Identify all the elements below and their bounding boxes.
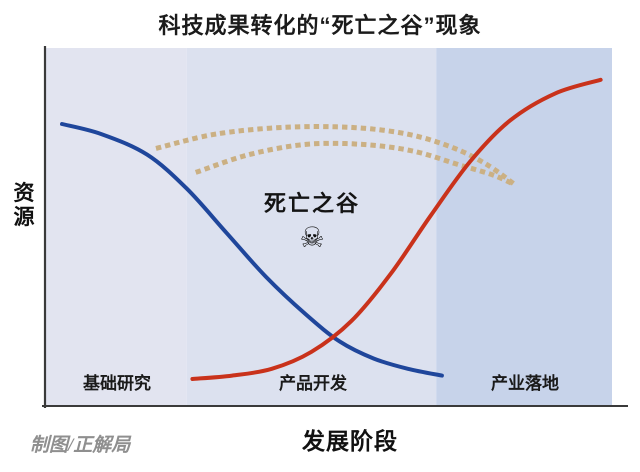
stage-label-product-development: 产品开发 bbox=[258, 369, 368, 394]
valley-of-death-annotation: 死亡之谷 ☠ bbox=[232, 186, 392, 252]
chart-canvas: 科技成果转化的“死亡之谷”现象 资源 发展阶段 基础研究 产品开发 产业落地 死… bbox=[0, 0, 640, 472]
x-axis-label: 发展阶段 bbox=[170, 422, 530, 456]
valley-of-death-label: 死亡之谷 bbox=[232, 186, 392, 218]
y-axis-label-char-2: 源 bbox=[8, 206, 40, 230]
skull-and-crossbones-icon: ☠ bbox=[232, 224, 392, 252]
y-axis-label: 资源 bbox=[8, 182, 40, 231]
credit-watermark: 制图/正解局 bbox=[30, 430, 130, 457]
band-industrialization bbox=[436, 48, 612, 406]
stage-label-basic-research: 基础研究 bbox=[62, 369, 172, 394]
stage-label-industrialization: 产业落地 bbox=[470, 369, 580, 394]
band-basic-research bbox=[45, 48, 187, 406]
y-axis-label-char-1: 资 bbox=[8, 182, 40, 206]
